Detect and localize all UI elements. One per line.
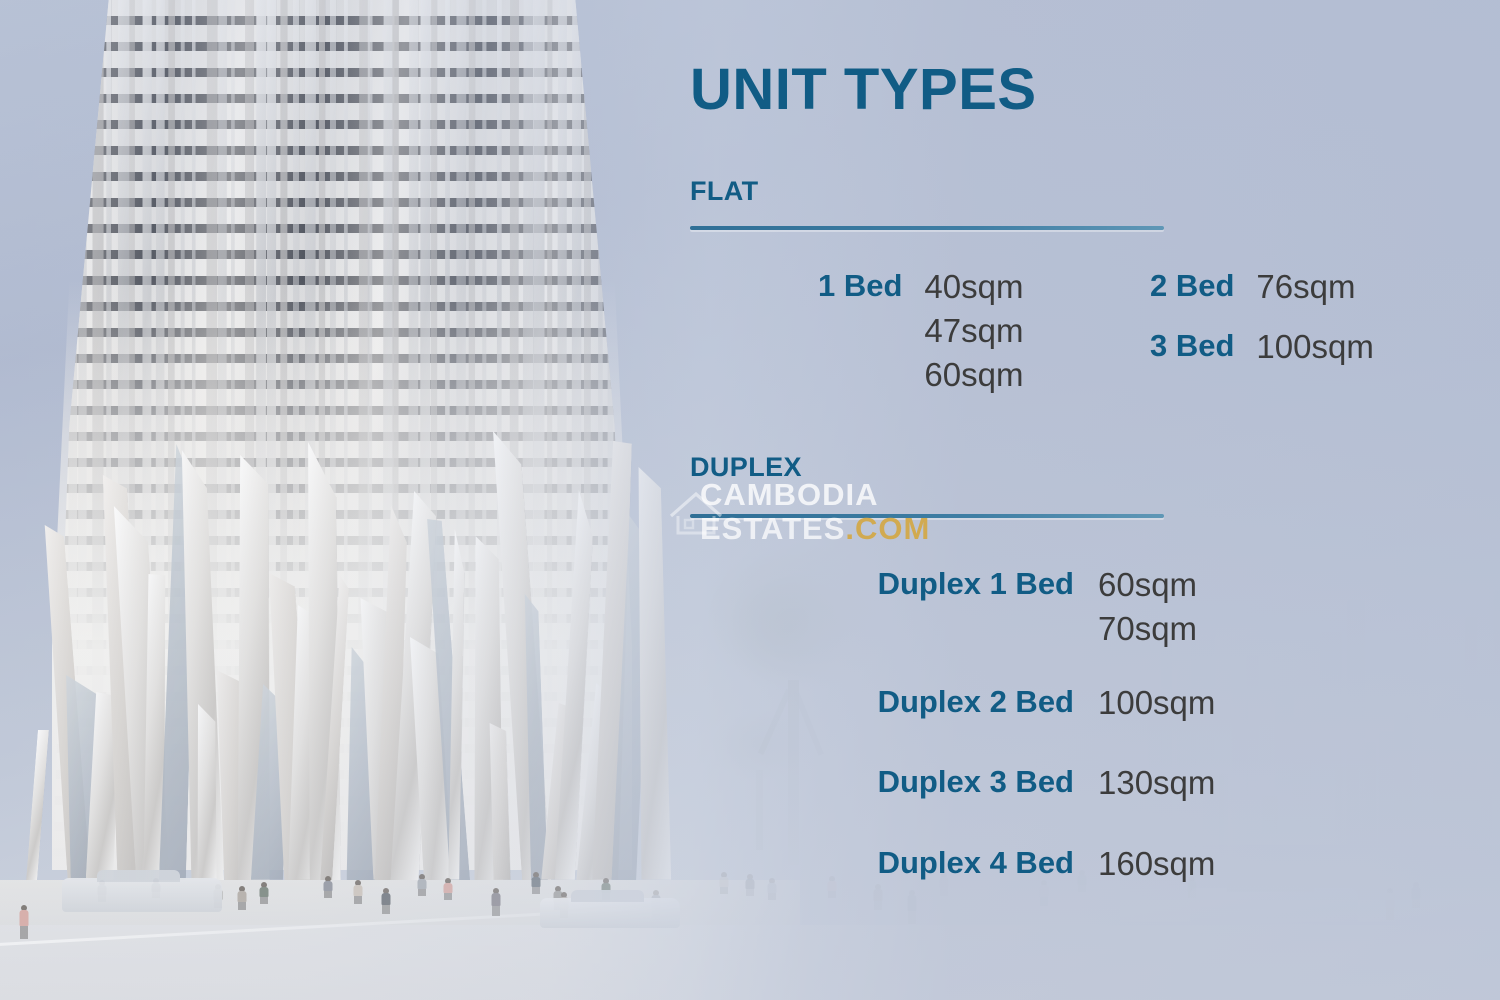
unit-value: 76sqm [1256, 268, 1355, 306]
content-panel: UNIT TYPES FLAT 1 Bed 40sqm 47sqm 60sqm … [0, 0, 1500, 1000]
section-heading-duplex: DUPLEX [690, 452, 802, 483]
unit-row: 2 Bed 76sqm [1150, 268, 1374, 306]
duplex-row: Duplex 2 Bed 100sqm [856, 684, 1215, 722]
unit-value: 47sqm [924, 312, 1023, 350]
duplex-row: Duplex 3 Bed 130sqm [856, 764, 1215, 802]
unit-value: 100sqm [1256, 328, 1373, 366]
section-heading-flat: FLAT [690, 176, 759, 207]
duplex-value: 60sqm [1098, 566, 1197, 604]
duplex-value: 100sqm [1098, 684, 1215, 722]
duplex-row: Duplex 1 Bed 60sqm 70sqm [856, 566, 1197, 648]
duplex-value: 160sqm [1098, 845, 1215, 883]
unit-row: 1 Bed 40sqm 47sqm 60sqm [818, 268, 1023, 394]
duplex-label: Duplex 2 Bed [856, 684, 1074, 720]
duplex-value: 70sqm [1098, 610, 1197, 648]
divider-flat [690, 226, 1164, 230]
unit-label: 1 Bed [818, 268, 902, 304]
divider-duplex [690, 514, 1164, 518]
unit-value: 60sqm [924, 356, 1023, 394]
unit-value: 40sqm [924, 268, 1023, 306]
duplex-label: Duplex 1 Bed [856, 566, 1074, 602]
duplex-label: Duplex 4 Bed [856, 845, 1074, 881]
unit-row: 3 Bed 100sqm [1150, 328, 1374, 366]
unit-label: 2 Bed [1150, 268, 1234, 304]
flat-column-2: 2 Bed 76sqm 3 Bed 100sqm [1150, 268, 1374, 366]
duplex-value-stack: 60sqm 70sqm [1098, 566, 1197, 648]
unit-value-stack: 40sqm 47sqm 60sqm [924, 268, 1023, 394]
duplex-value: 130sqm [1098, 764, 1215, 802]
unit-label: 3 Bed [1150, 328, 1234, 364]
duplex-label: Duplex 3 Bed [856, 764, 1074, 800]
duplex-row: Duplex 4 Bed 160sqm [856, 845, 1215, 883]
page-title: UNIT TYPES [690, 56, 1037, 123]
flat-column-1: 1 Bed 40sqm 47sqm 60sqm [818, 268, 1023, 394]
